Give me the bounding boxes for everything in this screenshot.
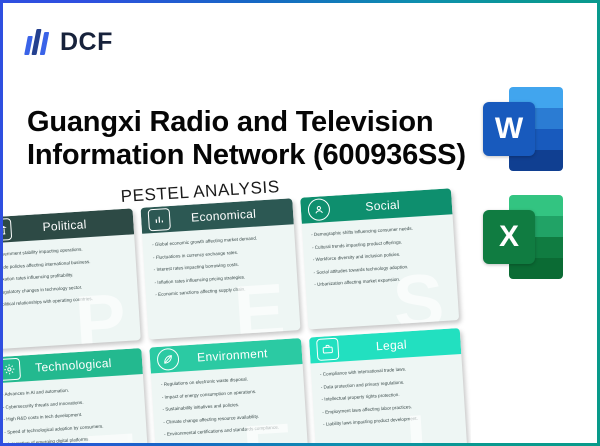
bar-chart-icon [148, 208, 171, 231]
person-icon [307, 198, 330, 221]
pestel-bullet: - Advances in AI and automation. [3, 384, 135, 398]
pestel-rotated-board: PESTEL ANALYSIS PoliticalP- Government s… [3, 179, 471, 443]
pestel-bullet: - Cybersecurity threats and innovations. [3, 396, 136, 410]
pestel-bullet: - Speed of technological adoption by con… [4, 421, 137, 435]
pestel-bullet: - Workforce diversity and inclusion poli… [313, 249, 446, 263]
pestel-bullet: - Data protection and privacy regulation… [321, 376, 454, 390]
pestel-card-title: Political [11, 214, 134, 236]
excel-letter: X [483, 210, 535, 264]
pestel-card-title: Legal [338, 334, 461, 356]
pestel-bullet: - Demographic shifts influencing consume… [311, 224, 444, 238]
pestel-card-economical: EconomicalE- Global economic growth affe… [141, 198, 300, 339]
pestel-card-body-political: P- Government stability impacting operat… [3, 234, 141, 349]
pestel-watermark-letter: E [232, 273, 287, 340]
pestel-card-title: Technological [20, 354, 143, 376]
pestel-card-title: Environment [179, 344, 302, 366]
pestel-bullet: - Liability laws impacting product devel… [323, 413, 456, 427]
pestel-bullet: - Integration of emerging digital platfo… [5, 433, 138, 443]
pestel-bullet: - Environmental certifications and stand… [164, 423, 297, 437]
pestel-bullet: - Climate change affecting resource avai… [163, 411, 296, 425]
brand-logo[interactable]: DCF [25, 27, 113, 57]
pestel-bullet: - Cultural trends impacting product offe… [312, 236, 445, 250]
pestel-watermark-letter: P [73, 283, 128, 350]
leaf-icon [157, 348, 180, 371]
pestel-bullet: - Sustainability initiatives and policie… [162, 398, 295, 412]
pestel-bullet: - Government stability impacting operati… [3, 244, 126, 258]
pestel-bullet: - Inflation rates influencing pricing st… [154, 271, 287, 285]
word-document-icon[interactable]: W [483, 83, 565, 175]
pestel-grid: PoliticalP- Government stability impacti… [3, 188, 468, 443]
pestel-card-body-legal: L- Compliance with international trade l… [310, 354, 468, 443]
word-letter: W [483, 102, 535, 156]
pestel-bullet: - Economic sanctions affecting supply ch… [155, 284, 288, 298]
pestel-bullet: - Interest rates impacting borrowing cos… [154, 259, 287, 273]
pestel-card-title: Economical [170, 204, 293, 226]
excel-document-icon[interactable]: X [483, 191, 565, 283]
pestel-bullet: - Regulations on electronic waste dispos… [161, 374, 294, 388]
pestel-card-technological: TechnologicalT- Advances in AI and autom… [3, 348, 150, 443]
pestel-bullet: - Employment laws affecting labor practi… [322, 401, 455, 415]
pestel-bullet: - Political relationships with operating… [3, 294, 130, 308]
brand-name: DCF [60, 28, 113, 57]
pestel-bullet: - High R&D costs in tech development. [3, 408, 136, 422]
pestel-card-body-environment: E- Regulations on electronic waste dispo… [151, 364, 309, 443]
pestel-bullet: - Fluctuations in currency exchange rate… [153, 246, 286, 260]
pestel-card-environment: EnvironmentE- Regulations on electronic … [150, 338, 309, 443]
page-canvas: DCF Guangxi Radio and Television Informa… [3, 3, 597, 443]
pestel-card-legal: LegalL- Compliance with international tr… [309, 328, 468, 443]
pestel-card-political: PoliticalP- Government stability impacti… [3, 208, 141, 349]
pestel-card-body-social: S- Demographic shifts influencing consum… [301, 214, 459, 329]
pestel-bullet: - Impact of energy consumption on operat… [162, 386, 295, 400]
briefcase-icon [316, 338, 339, 361]
gradient-frame: DCF Guangxi Radio and Television Informa… [0, 0, 600, 446]
pestel-bullet: - Intellectual property rights protectio… [321, 388, 454, 402]
pestel-card-body-technological: T- Advances in AI and automation.- Cyber… [3, 374, 150, 443]
gear-icon [3, 358, 21, 381]
pestel-bullet: - Global economic growth affecting marke… [152, 234, 285, 248]
dcf-bars-icon [25, 27, 51, 57]
pestel-bullet: - Taxation rates influencing profitabili… [3, 269, 128, 283]
pestel-bullet: - Compliance with international trade la… [320, 364, 453, 378]
pestel-card-title: Social [329, 194, 452, 216]
pestel-bullet: - Regulatory changes in technology secto… [3, 281, 129, 295]
pestel-bullet: - Trade policies affecting international… [3, 256, 127, 270]
pestel-card-body-economical: E- Global economic growth affecting mark… [142, 224, 300, 339]
pestel-bullet: - Social attitudes towards technology ad… [313, 261, 446, 275]
pestel-bullet: - Urbanization affecting market expansio… [314, 274, 447, 288]
pestel-watermark-letter: S [391, 263, 446, 330]
pestel-card-social: SocialS- Demographic shifts influencing … [300, 188, 459, 329]
download-icons: W X [483, 83, 579, 299]
pestel-analysis-graphic: PESTEL ANALYSIS PoliticalP- Government s… [3, 179, 471, 443]
